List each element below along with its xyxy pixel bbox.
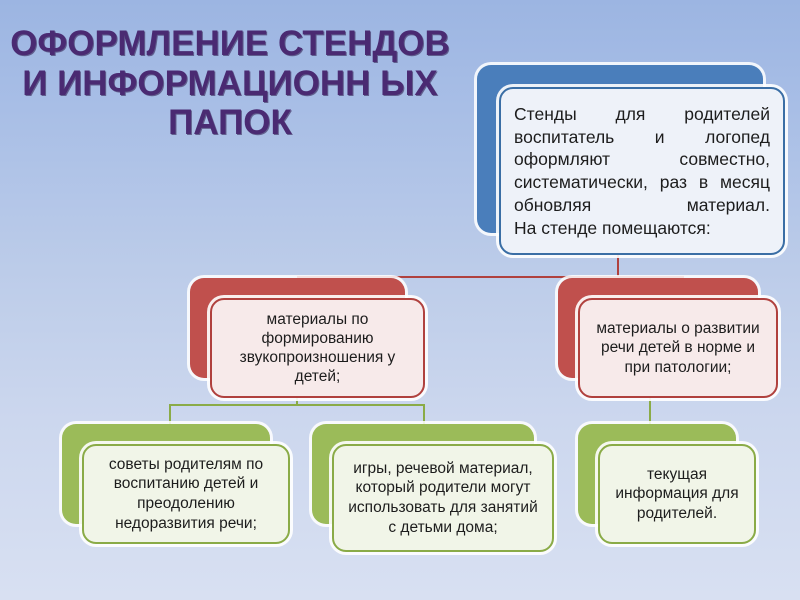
node-level3-2-text: игры, речевой материал, который родители… — [334, 459, 552, 537]
node-level2-materials-speech-development[interactable]: материалы о развитии речи детей в норме … — [558, 278, 758, 378]
node-level3-3-text: текущая информация для родителей. — [600, 465, 754, 524]
page-title: ОФОРМЛЕНИЕ СТЕНДОВ И ИНФОРМАЦИОНН ЫХ ПАП… — [10, 24, 450, 143]
node-level3-1-text: советы родителям по воспитанию детей и п… — [84, 455, 288, 533]
node-root-text-last: На стенде помещаются: — [514, 217, 770, 240]
connector-green2-drop — [423, 404, 425, 426]
node-level2-1-body: материалы по формированию звукопроизноше… — [210, 298, 425, 398]
node-level2-materials-pronunciation[interactable]: материалы по формированию звукопроизноше… — [190, 278, 405, 378]
node-root[interactable]: Стенды для родителей воспитатель и логоп… — [477, 65, 763, 233]
node-root-text: Стенды для родителей воспитатель и логоп… — [501, 103, 783, 240]
node-level2-1-text: материалы по формированию звукопроизноше… — [212, 310, 423, 387]
node-level3-games-speech-material[interactable]: игры, речевой материал, который родители… — [312, 424, 534, 524]
node-level2-2-text: материалы о развитии речи детей в норме … — [580, 319, 776, 377]
slide-canvas: ОФОРМЛЕНИЕ СТЕНДОВ И ИНФОРМАЦИОНН ЫХ ПАП… — [0, 0, 800, 600]
connector-green1-drop — [169, 404, 171, 426]
connector-green-horizontal — [169, 404, 425, 406]
node-level3-current-information[interactable]: текущая информация для родителей. — [578, 424, 736, 524]
node-level3-3-body: текущая информация для родителей. — [598, 444, 756, 544]
node-level3-advice-to-parents[interactable]: советы родителям по воспитанию детей и п… — [62, 424, 270, 524]
node-root-body: Стенды для родителей воспитатель и логоп… — [499, 87, 785, 255]
node-level3-2-body: игры, речевой материал, который родители… — [332, 444, 554, 552]
node-root-text-body: Стенды для родителей воспитатель и логоп… — [514, 104, 770, 215]
node-level3-1-body: советы родителям по воспитанию детей и п… — [82, 444, 290, 544]
node-level2-2-body: материалы о развитии речи детей в норме … — [578, 298, 778, 398]
